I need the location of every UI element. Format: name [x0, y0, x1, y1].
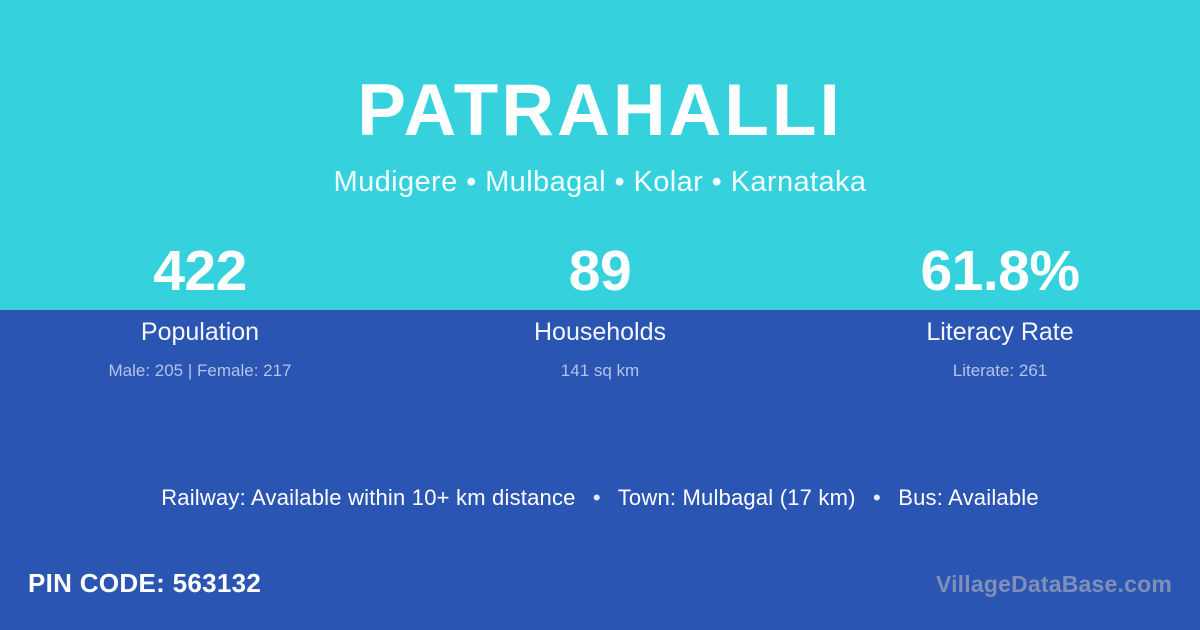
- card-footer: PIN CODE: 563132 VillageDataBase.com: [0, 568, 1200, 612]
- bullet-separator-icon: •: [862, 485, 892, 511]
- stat-literacy-rate: 61.8% Literacy Rate Literate: 261: [800, 243, 1200, 379]
- bullet-separator-icon: •: [582, 485, 612, 511]
- brand-logo: VillageDataBase.com: [936, 571, 1172, 598]
- stat-population: 422 Population Male: 205 | Female: 217: [0, 243, 400, 379]
- stats-row: 422 Population Male: 205 | Female: 217 8…: [0, 243, 1200, 379]
- amenity-town: Town: Mulbagal (17 km): [618, 485, 856, 510]
- stat-label: Households: [400, 310, 800, 345]
- stat-subtext: 141 sq km: [400, 345, 800, 379]
- amenity-railway: Railway: Available within 10+ km distanc…: [161, 485, 575, 510]
- stat-value: 61.8%: [800, 243, 1200, 310]
- stat-value: 89: [400, 243, 800, 310]
- stat-subtext: Male: 205 | Female: 217: [0, 345, 400, 379]
- amenities-line: Railway: Available within 10+ km distanc…: [0, 485, 1200, 511]
- amenity-bus: Bus: Available: [898, 485, 1039, 510]
- stat-label: Population: [0, 310, 400, 345]
- page-title: PATRAHALLI: [0, 0, 1200, 147]
- card-header: PATRAHALLI Mudigere • Mulbagal • Kolar •…: [0, 0, 1200, 199]
- breadcrumb: Mudigere • Mulbagal • Kolar • Karnataka: [0, 147, 1200, 199]
- stat-subtext: Literate: 261: [800, 345, 1200, 379]
- village-info-card: PATRAHALLI Mudigere • Mulbagal • Kolar •…: [0, 0, 1200, 630]
- stat-households: 89 Households 141 sq km: [400, 243, 800, 379]
- stat-value: 422: [0, 243, 400, 310]
- pin-code: PIN CODE: 563132: [28, 568, 261, 599]
- stat-label: Literacy Rate: [800, 310, 1200, 345]
